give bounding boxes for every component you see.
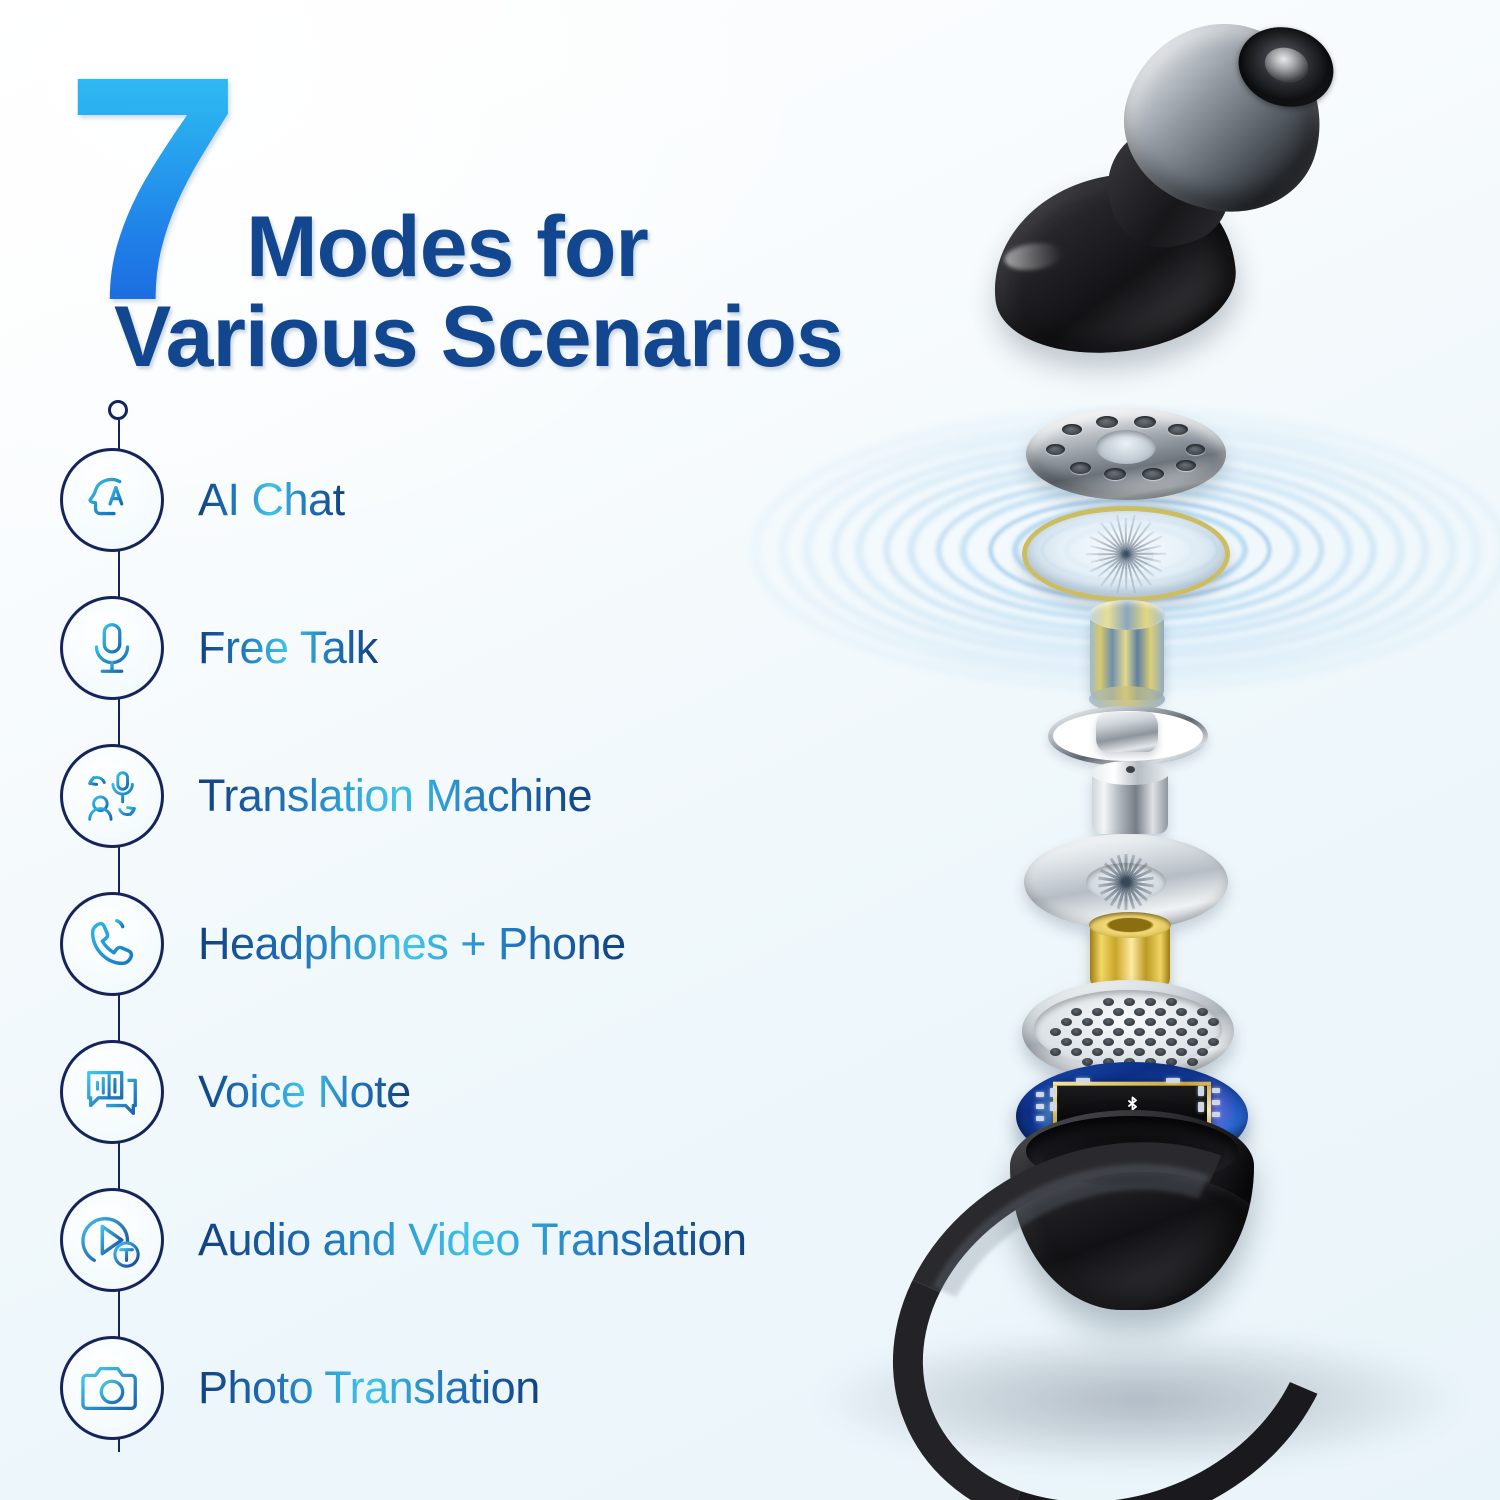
headline-line-1: Modes for: [246, 202, 648, 292]
feature-label: Headphones + Phone: [198, 918, 626, 970]
feature-item-photo-translation[interactable]: Photo Translation: [60, 1336, 820, 1440]
translate-person-mic-icon: [60, 744, 164, 848]
speech-waveform-icon: [60, 1040, 164, 1144]
feature-item-translation-machine[interactable]: Translation Machine: [60, 744, 820, 848]
center-puck-part: [1096, 712, 1158, 752]
feature-label: Translation Machine: [198, 770, 592, 822]
infographic-canvas: 7 Modes for Various Scenarios AI Chat: [0, 0, 1500, 1500]
timeline-pin-icon: [108, 400, 128, 420]
feature-label: Photo Translation: [198, 1362, 540, 1414]
feature-item-audio-video-translation[interactable]: Audio and Video Translation: [60, 1188, 820, 1292]
product-exploded-view: Bluetooth 5.4: [760, 0, 1500, 1500]
feature-item-voice-note[interactable]: Voice Note: [60, 1040, 820, 1144]
camera-icon: [60, 1336, 164, 1440]
speaker-diaphragm-part: [1022, 506, 1230, 602]
feature-label: Voice Note: [198, 1066, 411, 1118]
headline-line-2: Various Scenarios: [114, 292, 843, 382]
feature-item-ai-chat[interactable]: AI Chat: [60, 448, 820, 552]
feature-item-free-talk[interactable]: Free Talk: [60, 596, 820, 700]
phone-handset-icon: [60, 892, 164, 996]
feature-label: Audio and Video Translation: [198, 1214, 747, 1266]
magnet-core-part: [1092, 772, 1168, 834]
play-translate-icon: [60, 1188, 164, 1292]
ai-head-icon: [60, 448, 164, 552]
microphone-icon: [60, 596, 164, 700]
feature-item-headphones-phone[interactable]: Headphones + Phone: [60, 892, 820, 996]
feature-label: Free Talk: [198, 622, 378, 674]
perforated-grille-part: [1026, 408, 1226, 500]
voice-coil-part: [1090, 614, 1164, 700]
feature-label: AI Chat: [198, 474, 345, 526]
feature-timeline: AI Chat Free Talk: [60, 392, 820, 1472]
